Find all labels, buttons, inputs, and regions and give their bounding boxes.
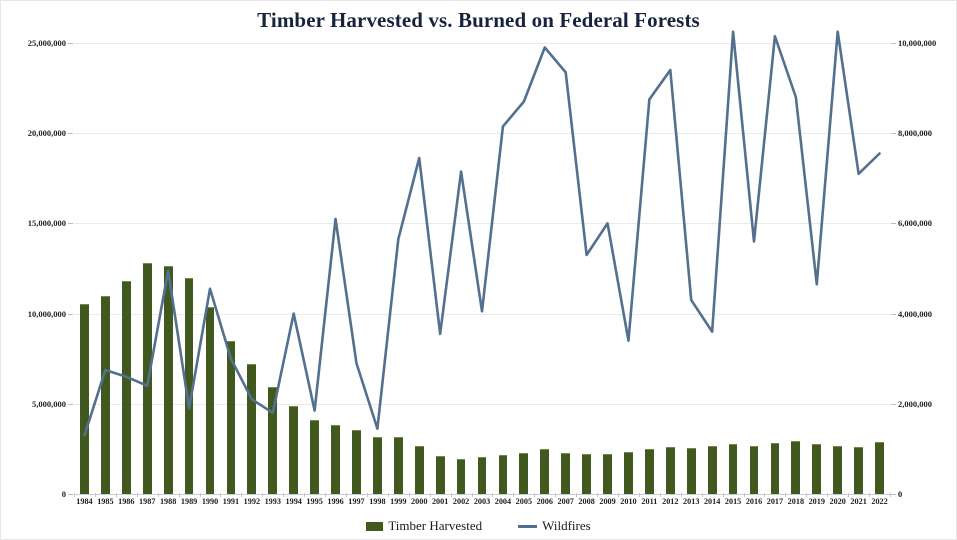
- x-axis-tick-label: 2022: [871, 497, 887, 506]
- x-axis-tick: [764, 493, 765, 497]
- bar: [833, 446, 842, 494]
- bar: [289, 406, 298, 494]
- bar: [164, 266, 173, 494]
- bar: [122, 281, 131, 494]
- x-axis-tick: [220, 493, 221, 497]
- y-axis-right-tick-label: 2,000,000: [898, 399, 957, 409]
- gridline: [74, 314, 890, 315]
- x-axis-tick: [513, 493, 514, 497]
- x-axis-tick-label: 2009: [599, 497, 615, 506]
- line-series-wildfires: [74, 43, 890, 494]
- x-axis-tick: [74, 493, 75, 497]
- x-axis-tick-label: 2001: [432, 497, 448, 506]
- x-axis-tick: [451, 493, 452, 497]
- x-axis-tick: [346, 493, 347, 497]
- x-axis-tick-label: 1986: [118, 497, 134, 506]
- x-axis-tick: [827, 493, 828, 497]
- chart-title: Timber Harvested vs. Burned on Federal F…: [0, 8, 957, 33]
- gridline: [74, 404, 890, 405]
- y-axis-left-tick-label: 25,000,000: [0, 38, 66, 48]
- y-axis-left-tick: [68, 404, 73, 405]
- x-axis-tick-label: 1990: [202, 497, 218, 506]
- y-axis-left-tick: [68, 223, 73, 224]
- x-axis-tick: [137, 493, 138, 497]
- bar: [227, 341, 236, 494]
- x-axis-tick: [430, 493, 431, 497]
- bar: [729, 444, 738, 495]
- x-axis-tick-label: 1995: [306, 497, 322, 506]
- y-axis-left-tick-label: 20,000,000: [0, 128, 66, 138]
- bar: [750, 446, 759, 494]
- bar: [185, 278, 194, 494]
- bar: [854, 447, 863, 494]
- bar: [268, 387, 277, 494]
- gridline: [74, 494, 890, 495]
- bar: [101, 296, 110, 494]
- bar: [247, 364, 256, 494]
- x-axis-tick-label: 1993: [265, 497, 281, 506]
- bar: [771, 443, 780, 494]
- y-axis-left-tick-label: 15,000,000: [0, 218, 66, 228]
- x-axis-tick: [325, 493, 326, 497]
- legend-label-wildfires: Wildfires: [542, 518, 591, 534]
- x-axis-tick: [785, 493, 786, 497]
- bar: [582, 454, 591, 494]
- legend-swatch-line-icon: [518, 525, 537, 528]
- x-axis-tick-label: 2019: [809, 497, 825, 506]
- x-axis-tick: [304, 493, 305, 497]
- x-axis-tick-label: 1994: [286, 497, 302, 506]
- bar: [478, 457, 487, 494]
- y-axis-right-tick: [891, 223, 896, 224]
- x-axis-tick-label: 2008: [578, 497, 594, 506]
- x-axis-tick-label: 2016: [746, 497, 762, 506]
- bar: [331, 425, 340, 494]
- x-axis-tick: [744, 493, 745, 497]
- y-axis-right-tick-label: 8,000,000: [898, 128, 957, 138]
- x-axis-tick: [534, 493, 535, 497]
- x-axis-tick: [409, 493, 410, 497]
- x-axis-tick-label: 2011: [641, 497, 657, 506]
- bar: [352, 430, 361, 494]
- x-axis-tick-label: 1991: [223, 497, 239, 506]
- bar: [394, 437, 403, 494]
- x-axis-tick-label: 2007: [558, 497, 574, 506]
- x-axis-tick-label: 2020: [830, 497, 846, 506]
- x-axis-tick-label: 2014: [704, 497, 720, 506]
- bar: [436, 456, 445, 494]
- x-axis-tick: [262, 493, 263, 497]
- x-axis-tick-label: 2013: [683, 497, 699, 506]
- y-axis-right-tick: [891, 314, 896, 315]
- chart-container: Timber Harvested vs. Burned on Federal F…: [0, 0, 957, 540]
- bar: [80, 304, 89, 494]
- x-axis-tick-label: 1987: [139, 497, 155, 506]
- x-axis-tick: [200, 493, 201, 497]
- y-axis-right-tick-label: 6,000,000: [898, 218, 957, 228]
- bar: [708, 446, 717, 494]
- bar: [561, 453, 570, 494]
- legend-item-timber-harvested[interactable]: Timber Harvested: [366, 518, 482, 534]
- x-axis-tick: [681, 493, 682, 497]
- y-axis-right-tick: [891, 133, 896, 134]
- y-axis-right-tick: [891, 494, 896, 495]
- x-axis-tick-label: 2015: [725, 497, 741, 506]
- bar: [687, 448, 696, 494]
- x-axis-tick-label: 1984: [76, 497, 92, 506]
- plot-area: [74, 43, 890, 494]
- bar: [415, 446, 424, 494]
- x-axis-tick: [806, 493, 807, 497]
- x-axis-tick: [472, 493, 473, 497]
- bar: [666, 447, 675, 494]
- x-axis-tick: [660, 493, 661, 497]
- y-axis-left-tick: [68, 133, 73, 134]
- x-axis-tick: [492, 493, 493, 497]
- x-axis-tick: [597, 493, 598, 497]
- x-axis-tick-label: 2012: [662, 497, 678, 506]
- gridline: [74, 223, 890, 224]
- x-axis-tick-label: 1999: [390, 497, 406, 506]
- y-axis-right-tick: [891, 43, 896, 44]
- bar: [310, 420, 319, 494]
- x-axis-tick: [116, 493, 117, 497]
- x-axis-tick-label: 2010: [620, 497, 636, 506]
- x-axis-tick-label: 2017: [767, 497, 783, 506]
- y-axis-left-tick: [68, 314, 73, 315]
- x-axis-tick-label: 1998: [369, 497, 385, 506]
- bar: [373, 437, 382, 494]
- x-axis-tick-label: 1992: [244, 497, 260, 506]
- y-axis-left-tick: [68, 494, 73, 495]
- x-axis-tick-label: 1985: [97, 497, 113, 506]
- x-axis-tick: [179, 493, 180, 497]
- y-axis-left-tick: [68, 43, 73, 44]
- x-axis-tick: [283, 493, 284, 497]
- legend-swatch-bar-icon: [366, 522, 383, 531]
- x-axis-tick: [576, 493, 577, 497]
- x-axis-tick: [241, 493, 242, 497]
- bar: [645, 449, 654, 494]
- x-axis-tick-label: 2000: [411, 497, 427, 506]
- chart-legend: Timber Harvested Wildfires: [0, 518, 957, 534]
- bar: [603, 454, 612, 494]
- bar: [206, 307, 215, 494]
- y-axis-left-tick-label: 10,000,000: [0, 309, 66, 319]
- y-axis-left-tick-label: 5,000,000: [0, 399, 66, 409]
- legend-item-wildfires[interactable]: Wildfires: [518, 518, 591, 534]
- gridline: [74, 133, 890, 134]
- x-axis-tick-label: 2004: [495, 497, 511, 506]
- x-axis-tick: [723, 493, 724, 497]
- y-axis-left-tick-label: 0: [0, 489, 66, 499]
- x-axis-tick: [367, 493, 368, 497]
- y-axis-right-tick-label: 0: [898, 489, 957, 499]
- gridline: [74, 43, 890, 44]
- x-axis-tick-label: 1997: [348, 497, 364, 506]
- x-axis-tick: [158, 493, 159, 497]
- x-axis-tick: [618, 493, 619, 497]
- x-axis-tick: [869, 493, 870, 497]
- x-axis-tick: [95, 493, 96, 497]
- bar: [499, 455, 508, 494]
- x-axis-tick-label: 2002: [453, 497, 469, 506]
- bar: [812, 444, 821, 495]
- x-axis-tick-label: 1988: [160, 497, 176, 506]
- bar: [624, 452, 633, 494]
- x-axis-tick-label: 2006: [537, 497, 553, 506]
- y-axis-right-tick: [891, 404, 896, 405]
- x-axis-tick-label: 1989: [181, 497, 197, 506]
- x-axis-tick-labels: 1984198519861987198819891990199119921993…: [74, 497, 890, 513]
- bar: [519, 453, 528, 494]
- x-axis-tick: [702, 493, 703, 497]
- x-axis-tick: [555, 493, 556, 497]
- x-axis-tick-label: 2003: [474, 497, 490, 506]
- y-axis-right-tick-label: 4,000,000: [898, 309, 957, 319]
- bar: [540, 449, 549, 494]
- x-axis-tick-label: 2021: [850, 497, 866, 506]
- x-axis-tick-label: 2005: [516, 497, 532, 506]
- y-axis-right-tick-label: 10,000,000: [898, 38, 957, 48]
- bar: [875, 442, 884, 494]
- x-axis-tick: [639, 493, 640, 497]
- x-axis-tick: [890, 493, 891, 497]
- bar: [457, 459, 466, 494]
- x-axis-tick-label: 1996: [327, 497, 343, 506]
- x-axis-tick: [848, 493, 849, 497]
- bar: [791, 441, 800, 494]
- x-axis-tick: [388, 493, 389, 497]
- x-axis-tick-label: 2018: [788, 497, 804, 506]
- legend-label-timber-harvested: Timber Harvested: [388, 518, 482, 534]
- bar: [143, 263, 152, 494]
- wildfires-polyline: [84, 32, 879, 436]
